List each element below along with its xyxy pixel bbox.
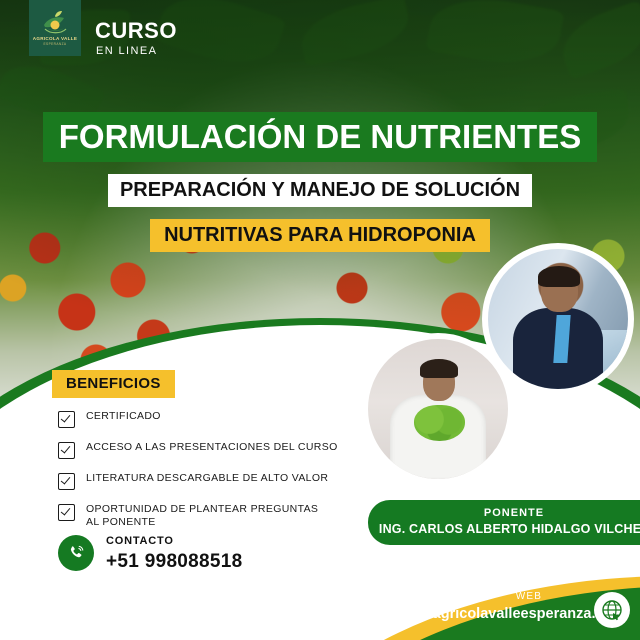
- course-mode: EN LINEA: [96, 46, 177, 57]
- lettuce-shape: [414, 405, 464, 441]
- globe-icon-badge: [594, 592, 630, 628]
- benefit-label: ACCESO A LAS PRESENTACIONES DEL CURSO: [86, 441, 338, 454]
- contact-text: CONTACTO +51 998088518: [106, 536, 243, 571]
- headline-tertiary: NUTRITIVAS PARA HIDROPONIA: [150, 219, 490, 252]
- sunrise-leaf-icon: [40, 10, 70, 36]
- benefit-item: CERTIFICADO: [58, 410, 358, 428]
- globe-icon: [600, 598, 624, 622]
- hair-shape: [538, 266, 580, 287]
- checkbox-checked-icon: [58, 504, 75, 521]
- phone-icon: [66, 543, 86, 563]
- contact-phone-number[interactable]: +51 998088518: [106, 552, 243, 571]
- benefits-title: BENEFICIOS: [52, 370, 175, 398]
- course-promo-poster: AGRICOLA VALLE ESPERANZA CURSO EN LINEA …: [0, 0, 640, 640]
- speaker-role-label: PONENTE: [378, 508, 640, 519]
- speaker-banner: PONENTE ING. CARLOS ALBERTO HIDALGO VILC…: [368, 500, 640, 545]
- benefit-item: OPORTUNIDAD DE PLANTEAR PREGUNTAS AL PON…: [58, 503, 358, 529]
- hair-shape: [420, 359, 458, 379]
- benefit-label: OPORTUNIDAD DE PLANTEAR PREGUNTAS AL PON…: [86, 503, 318, 529]
- phone-icon-badge: [58, 535, 94, 571]
- checkbox-checked-icon: [58, 411, 75, 428]
- brand-logo: AGRICOLA VALLE ESPERANZA: [29, 0, 81, 56]
- benefits-list: CERTIFICADO ACCESO A LAS PRESENTACIONES …: [58, 410, 358, 542]
- course-kicker-block: CURSO EN LINEA: [95, 20, 177, 57]
- brand-logo-name: AGRICOLA VALLE: [33, 37, 78, 42]
- headline-block: FORMULACIÓN DE NUTRIENTES PREPARACIÓN Y …: [0, 112, 640, 252]
- benefit-item: ACCESO A LAS PRESENTACIONES DEL CURSO: [58, 441, 358, 459]
- course-kicker: CURSO: [95, 20, 177, 42]
- checkbox-checked-icon: [58, 442, 75, 459]
- contact-block[interactable]: CONTACTO +51 998088518: [58, 535, 243, 571]
- benefit-item: LITERATURA DESCARGABLE DE ALTO VALOR: [58, 472, 358, 490]
- brand-logo-subtitle: ESPERANZA: [44, 43, 67, 46]
- headline-secondary: PREPARACIÓN Y MANEJO DE SOLUCIÓN: [108, 174, 532, 207]
- speaker-lettuce-photo: [362, 333, 514, 485]
- benefit-label: CERTIFICADO: [86, 410, 161, 423]
- headline-primary: FORMULACIÓN DE NUTRIENTES: [43, 112, 598, 162]
- checkbox-checked-icon: [58, 473, 75, 490]
- speaker-name: ING. CARLOS ALBERTO HIDALGO VILCHEZ: [378, 523, 640, 536]
- contact-label: CONTACTO: [106, 536, 243, 547]
- benefit-label: LITERATURA DESCARGABLE DE ALTO VALOR: [86, 472, 328, 485]
